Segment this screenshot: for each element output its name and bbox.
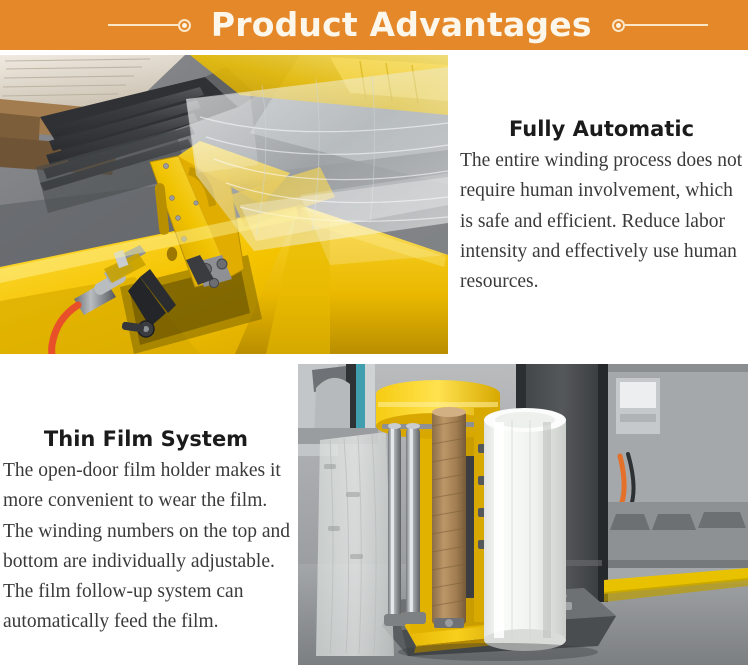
feature-image-thin-film-system: [298, 364, 748, 665]
banner-left-rule: [108, 24, 178, 26]
section-banner: Product Advantages: [0, 0, 748, 50]
feature-body-thin-film-system: The open-door film holder makes it more …: [0, 456, 292, 637]
fully-automatic-photo-illustration: [0, 55, 448, 354]
feature-text-fully-automatic: Fully Automatic The entire winding proce…: [455, 118, 748, 297]
banner-right-dot-icon: [612, 19, 625, 32]
page-title: Product Advantages: [211, 8, 592, 43]
banner-left-dot-icon: [178, 19, 191, 32]
feature-title-thin-film-system: Thin Film System: [0, 428, 292, 451]
feature-title-fully-automatic: Fully Automatic: [455, 118, 748, 141]
thin-film-system-photo-illustration: [298, 364, 748, 665]
product-advantages-page: Product Advantages: [0, 0, 748, 665]
banner-right-rule: [625, 24, 708, 26]
feature-body-fully-automatic: The entire winding process does not requ…: [455, 146, 748, 297]
banner-inner: Product Advantages: [0, 8, 748, 43]
feature-image-fully-automatic: [0, 55, 448, 354]
feature-text-thin-film-system: Thin Film System The open-door film hold…: [0, 428, 292, 637]
